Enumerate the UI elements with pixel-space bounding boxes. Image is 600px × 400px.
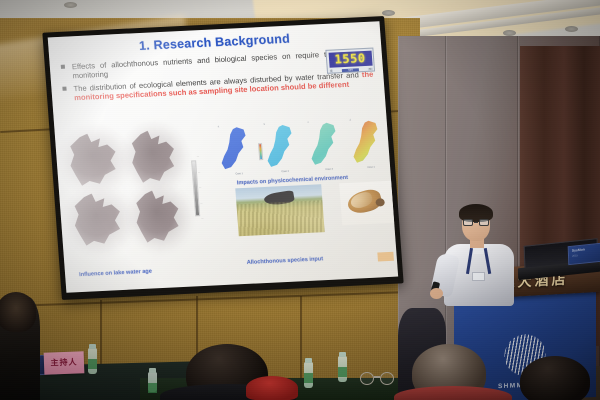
lake-map-thumbnail bbox=[65, 132, 125, 189]
field-landscape-photo bbox=[235, 184, 324, 236]
moderator-name-card-text: 主持人 bbox=[44, 356, 84, 368]
colored-lake-map: a Case 1 bbox=[217, 125, 258, 171]
countdown-timer: 1550 S MIN M bbox=[325, 48, 375, 74]
colored-lake-map: c Case 3 bbox=[307, 121, 348, 167]
timer-left-label: S bbox=[329, 70, 333, 73]
bottle-label bbox=[88, 359, 97, 369]
ceiling-downlight bbox=[565, 26, 578, 32]
audience-head bbox=[520, 356, 590, 400]
moderator-name-card: 主持人 bbox=[44, 351, 85, 374]
laptop-screen-title: SysMon bbox=[572, 247, 585, 252]
colorbar-tick: — bbox=[198, 171, 208, 173]
colored-lake-shape bbox=[217, 125, 258, 171]
bottle-cap bbox=[89, 344, 96, 349]
bottle-label bbox=[304, 373, 313, 383]
caption-allochthonous-species: Allochthonous species input bbox=[247, 256, 324, 266]
bottle-cap bbox=[305, 358, 312, 363]
bullet-square-icon bbox=[61, 65, 65, 69]
bottle-cap bbox=[339, 352, 346, 357]
presenter-hand bbox=[430, 288, 443, 299]
colored-lake-shape bbox=[349, 119, 390, 165]
water-bottle bbox=[88, 348, 97, 374]
bottle-label bbox=[338, 367, 347, 377]
lake-map-thumbnail bbox=[127, 129, 183, 185]
map-index-label: a bbox=[218, 125, 220, 128]
audience-red-cap bbox=[246, 376, 298, 400]
timer-digits: 1550 bbox=[334, 51, 366, 66]
map-index-label: c bbox=[308, 121, 310, 124]
lake-map-thumbnail bbox=[131, 189, 187, 245]
lake-water-age-map-grid: — — — — — bbox=[61, 126, 218, 261]
bullet-square-icon bbox=[62, 87, 66, 91]
insect-specimen-photo bbox=[339, 181, 394, 225]
physicochemical-map-row: a Case 1 b Case 2 c Case 3 d bbox=[217, 117, 393, 177]
colorbar-tick: — bbox=[199, 187, 209, 189]
colored-lake-shape bbox=[263, 123, 304, 169]
lake-map-thumbnail bbox=[69, 192, 129, 249]
map-caption: Case 2 bbox=[266, 169, 304, 174]
insect-head bbox=[375, 198, 385, 206]
laptop-screen-subtitle: 2015 bbox=[572, 254, 578, 258]
timer-right-label: M bbox=[368, 68, 372, 71]
map-caption: Case 1 bbox=[220, 171, 258, 176]
caption-lake-water-age: Influence on lake water age bbox=[79, 269, 152, 279]
mini-colorbar bbox=[258, 143, 263, 160]
conference-photo-scene: 1. Research Background Effects of alloch… bbox=[0, 0, 600, 400]
bottle-label bbox=[148, 383, 157, 393]
audience-member-left-hair bbox=[0, 292, 36, 332]
bottle-cap bbox=[149, 368, 156, 373]
ceiling-downlight bbox=[382, 10, 395, 16]
water-bottle bbox=[304, 362, 313, 388]
water-bottle bbox=[338, 356, 347, 382]
presenter-person bbox=[430, 196, 540, 306]
laptop-screen: SysMon 2015 bbox=[568, 242, 600, 265]
colorbar-tick: — bbox=[200, 202, 210, 204]
eyeglasses-icon bbox=[463, 219, 489, 226]
slide-corner-marker bbox=[377, 252, 394, 262]
timer-lcd-panel: 1550 bbox=[328, 50, 372, 67]
colorbar-tick: — bbox=[201, 218, 211, 220]
grass-field bbox=[236, 200, 324, 236]
colorbar-tick: — bbox=[197, 156, 207, 158]
presentation-slide: 1. Research Background Effects of alloch… bbox=[48, 21, 398, 293]
colored-lake-map: d Case 4 bbox=[349, 119, 390, 165]
map-caption: Case 4 bbox=[352, 165, 390, 170]
projection-screen: 1. Research Background Effects of alloch… bbox=[42, 16, 403, 300]
map-index-label: b bbox=[264, 123, 266, 126]
colored-lake-shape bbox=[307, 121, 348, 167]
map-index-label: d bbox=[349, 119, 351, 122]
colored-lake-map: b Case 2 bbox=[263, 123, 304, 169]
presenter-name-badge bbox=[472, 272, 485, 281]
timer-mid-label: MIN bbox=[342, 68, 359, 72]
ceiling-downlight bbox=[64, 2, 77, 8]
map-caption: Case 3 bbox=[310, 167, 348, 172]
water-bottle bbox=[148, 372, 157, 392]
eyeglasses-on-table-icon bbox=[360, 372, 394, 386]
